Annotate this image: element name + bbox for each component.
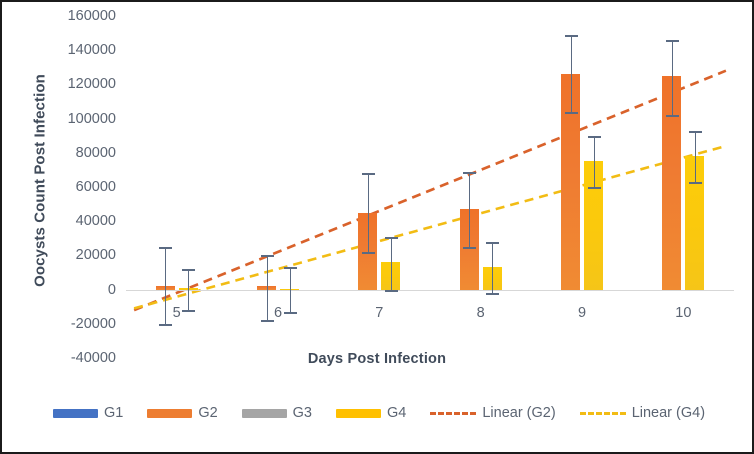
error-cap-upper	[486, 242, 499, 244]
trendline-linear--g2-	[134, 71, 726, 310]
y-axis-tick: 100000	[34, 112, 116, 127]
legend-item-g1[interactable]: G1	[53, 406, 123, 421]
error-cap-upper	[284, 267, 297, 269]
error-bar-g2-day-9	[571, 35, 572, 112]
legend-label: Linear (G4)	[632, 406, 705, 421]
error-cap-upper	[261, 255, 274, 257]
x-axis-tick: 9	[552, 306, 612, 321]
legend-label: G3	[293, 406, 312, 421]
error-cap-lower	[666, 115, 679, 117]
x-axis-tick: 7	[349, 306, 409, 321]
chart-legend: G1G2G3G4Linear (G2)Linear (G4)	[2, 406, 754, 421]
y-axis-tick: 80000	[34, 146, 116, 161]
y-axis-tick: -20000	[34, 317, 116, 332]
error-bar-g4-day-7	[391, 237, 392, 290]
y-axis-tick: 120000	[34, 77, 116, 92]
error-cap-lower	[385, 290, 398, 292]
legend-item-g4[interactable]: G4	[336, 406, 406, 421]
chart-frame: Oocysts Count Post Infection 16000014000…	[0, 0, 754, 454]
error-cap-lower	[565, 112, 578, 114]
error-bar-g2-day-7	[368, 173, 369, 252]
x-axis-tick: 5	[147, 306, 207, 321]
legend-label: Linear (G2)	[482, 406, 555, 421]
error-cap-upper	[159, 247, 172, 249]
error-bar-g4-day-8	[492, 242, 493, 293]
y-axis-tick: 40000	[34, 214, 116, 229]
error-cap-lower	[486, 293, 499, 295]
error-cap-upper	[362, 173, 375, 175]
legend-swatch-icon	[242, 409, 287, 418]
error-cap-upper	[385, 237, 398, 239]
legend-label: G4	[387, 406, 406, 421]
legend-dashed-line-icon	[430, 412, 476, 415]
legend-item-g2[interactable]: G2	[147, 406, 217, 421]
error-cap-lower	[159, 324, 172, 326]
error-cap-upper	[182, 269, 195, 271]
error-bar-g2-day-8	[469, 172, 470, 247]
error-bar-g2-day-10	[672, 40, 673, 115]
error-cap-upper	[689, 131, 702, 133]
legend-label: G2	[198, 406, 217, 421]
x-axis-tick: 6	[248, 306, 308, 321]
x-axis-title: Days Post Infection	[2, 351, 752, 367]
plot-area	[126, 16, 734, 358]
error-cap-upper	[463, 172, 476, 174]
error-cap-upper	[666, 40, 679, 42]
x-axis-tick: 10	[653, 306, 713, 321]
legend-item-g3[interactable]: G3	[242, 406, 312, 421]
x-axis-tick: 8	[451, 306, 511, 321]
legend-item-linear--g4-[interactable]: Linear (G4)	[580, 406, 705, 421]
chart-canvas: Oocysts Count Post Infection 16000014000…	[2, 2, 752, 452]
trendline-linear--g4-	[134, 146, 726, 308]
legend-label: G1	[104, 406, 123, 421]
error-cap-upper	[565, 35, 578, 37]
y-axis-tick: 160000	[34, 9, 116, 24]
error-bar-g4-day-5	[188, 269, 189, 310]
zero-axis-line	[126, 290, 734, 291]
error-cap-lower	[261, 320, 274, 322]
legend-swatch-icon	[147, 409, 192, 418]
legend-item-linear--g2-[interactable]: Linear (G2)	[430, 406, 555, 421]
y-axis-tick: 60000	[34, 180, 116, 195]
y-axis-tick: 20000	[34, 248, 116, 263]
trendlines-layer	[126, 16, 734, 358]
error-cap-upper	[588, 136, 601, 138]
legend-swatch-icon	[336, 409, 381, 418]
legend-swatch-icon	[53, 409, 98, 418]
error-cap-lower	[463, 247, 476, 249]
y-axis-tick: 140000	[34, 43, 116, 58]
error-bar-g4-day-9	[594, 136, 595, 187]
error-bar-g4-day-10	[695, 131, 696, 182]
error-cap-lower	[689, 182, 702, 184]
error-cap-lower	[362, 252, 375, 254]
y-axis-tick: 0	[34, 283, 116, 298]
legend-dashed-line-icon	[580, 412, 626, 415]
error-cap-lower	[588, 187, 601, 189]
